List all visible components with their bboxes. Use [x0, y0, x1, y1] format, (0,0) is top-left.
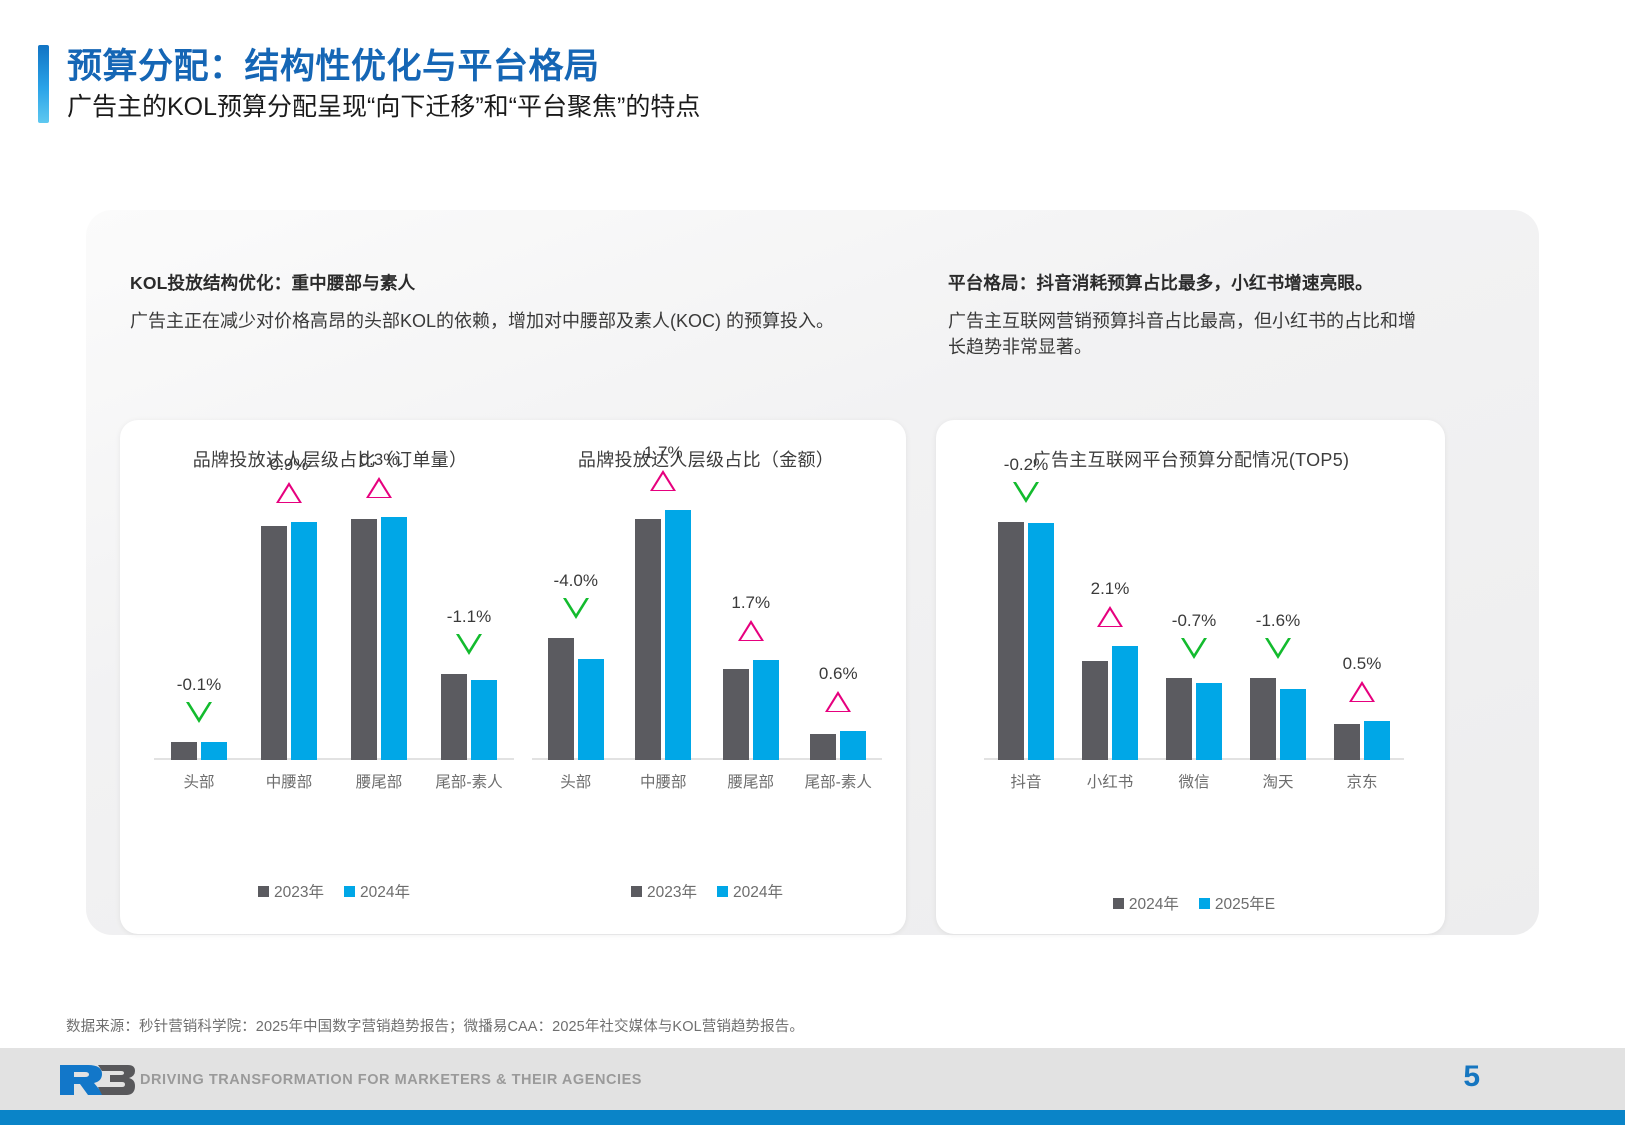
- callout-right-heading: 平台格局：抖音消耗预算占比最多，小红书增速亮眼。: [948, 270, 1428, 295]
- callout-right-body: 广告主互联网营销预算抖音占比最高，但小红书的占比和增长趋势非常显著。: [948, 308, 1428, 360]
- x-axis-label: 尾部-素人: [778, 770, 898, 792]
- legend-label: 2023年: [274, 880, 324, 902]
- legend-item[interactable]: 2024年: [344, 880, 410, 902]
- bar-series-b[interactable]: [291, 522, 317, 760]
- bar-group[interactable]: [808, 731, 868, 760]
- delta-marker: 0.6%: [793, 665, 883, 712]
- delta-value: 0.6%: [819, 665, 858, 682]
- callout-left: KOL投放结构优化：重中腰部与素人 广告主正在减少对价格高昂的头部KOL的依赖，…: [130, 270, 890, 334]
- triangle-down-icon: [1181, 638, 1207, 659]
- delta-value: 0.3%: [360, 451, 399, 468]
- triangle-down-icon: [1013, 482, 1039, 503]
- delta-value: -1.1%: [447, 608, 491, 625]
- page-title: 预算分配：结构性优化与平台格局: [67, 47, 700, 86]
- chart-platform-legend: 2024年2025年E: [984, 892, 1404, 914]
- bar-group[interactable]: [169, 742, 229, 760]
- bar-group[interactable]: [1332, 721, 1392, 760]
- slide-header: 预算分配：结构性优化与平台格局 广告主的KOL预算分配呈现“向下迁移”和“平台聚…: [38, 45, 700, 123]
- delta-marker: 2.1%: [1065, 580, 1155, 627]
- delta-marker: 1.7%: [618, 444, 708, 491]
- triangle-up-icon: [1097, 606, 1123, 627]
- callout-left-body: 广告主正在减少对价格高昂的头部KOL的依赖，增加对中腰部及素人(KOC) 的预算…: [130, 308, 890, 334]
- legend-item[interactable]: 2024年: [717, 880, 783, 902]
- chart-amount: 头部-4.0%中腰部1.7%腰尾部1.7%尾部-素人0.6%: [532, 484, 882, 794]
- triangle-up-icon: [738, 620, 764, 641]
- callout-right: 平台格局：抖音消耗预算占比最多，小红书增速亮眼。 广告主互联网营销预算抖音占比最…: [948, 270, 1428, 360]
- chart-platform: 抖音-0.2%小红书2.1%微信-0.7%淘天-1.6%京东0.5%: [984, 484, 1404, 794]
- r3-logo: [58, 1062, 136, 1098]
- delta-marker: 0.5%: [1317, 655, 1407, 702]
- legend-label: 2024年: [360, 880, 410, 902]
- slide-root: 预算分配：结构性优化与平台格局 广告主的KOL预算分配呈现“向下迁移”和“平台聚…: [0, 0, 1625, 1125]
- triangle-up-icon: [825, 691, 851, 712]
- legend-item[interactable]: 2024年: [1113, 892, 1179, 914]
- delta-value: -0.1%: [177, 676, 221, 693]
- bar-group[interactable]: [1080, 646, 1140, 760]
- bar-group[interactable]: [1164, 678, 1224, 760]
- delta-value: 1.7%: [644, 444, 683, 461]
- triangle-down-icon: [1265, 638, 1291, 659]
- delta-marker: -4.0%: [531, 572, 621, 619]
- legend-swatch: [344, 886, 355, 897]
- bar-series-b[interactable]: [840, 731, 866, 760]
- delta-marker: -0.2%: [981, 456, 1071, 503]
- chart-orders: 头部-0.1%中腰部0.9%腰尾部0.3%尾部-素人-1.1%: [154, 484, 514, 794]
- delta-marker: 0.3%: [334, 451, 424, 498]
- x-axis-label: 京东: [1302, 770, 1422, 792]
- triangle-down-icon: [186, 702, 212, 723]
- triangle-up-icon: [366, 477, 392, 498]
- bar-series-b[interactable]: [1364, 721, 1390, 760]
- bar-series-b[interactable]: [1196, 683, 1222, 760]
- page-number: 5: [1463, 1060, 1480, 1094]
- bar-series-a[interactable]: [548, 638, 574, 760]
- delta-marker: -1.6%: [1233, 612, 1323, 659]
- bar-group[interactable]: [1248, 678, 1308, 760]
- bar-series-b[interactable]: [381, 517, 407, 760]
- bar-series-a[interactable]: [810, 734, 836, 760]
- bar-series-b[interactable]: [753, 660, 779, 760]
- bar-series-b[interactable]: [578, 659, 604, 760]
- delta-value: 2.1%: [1091, 580, 1130, 597]
- chart-card-left: 品牌投放达人层级占比（订单量） 头部-0.1%中腰部0.9%腰尾部0.3%尾部-…: [120, 420, 906, 934]
- bar-series-a[interactable]: [171, 742, 197, 760]
- legend-label: 2025年E: [1215, 892, 1275, 914]
- legend-swatch: [631, 886, 642, 897]
- chart-orders-legend: 2023年2024年: [154, 880, 514, 902]
- delta-value: -4.0%: [554, 572, 598, 589]
- footer-accent-rule: [0, 1110, 1625, 1125]
- delta-value: -0.2%: [1004, 456, 1048, 473]
- triangle-up-icon: [1349, 681, 1375, 702]
- bar-series-b[interactable]: [471, 680, 497, 760]
- legend-swatch: [1199, 898, 1210, 909]
- legend-swatch: [258, 886, 269, 897]
- delta-marker: -0.7%: [1149, 612, 1239, 659]
- bar-series-b[interactable]: [1028, 523, 1054, 760]
- bar-group[interactable]: [996, 522, 1056, 760]
- bar-series-a[interactable]: [1334, 724, 1360, 760]
- legend-swatch: [717, 886, 728, 897]
- bar-series-a[interactable]: [1250, 678, 1276, 760]
- chart-card-right: 广告主互联网平台预算分配情况(TOP5) 抖音-0.2%小红书2.1%微信-0.…: [936, 420, 1445, 934]
- bar-group[interactable]: [349, 517, 409, 760]
- bar-series-a[interactable]: [1166, 678, 1192, 760]
- bar-group[interactable]: [259, 522, 319, 760]
- bar-series-a[interactable]: [635, 519, 661, 760]
- legend-item[interactable]: 2025年E: [1199, 892, 1275, 914]
- data-source-note: 数据来源：秒针营销科学院：2025年中国数字营销趋势报告；微播易CAA：2025…: [66, 1015, 804, 1036]
- triangle-down-icon: [563, 598, 589, 619]
- chart-amount-legend: 2023年2024年: [532, 880, 882, 902]
- legend-item[interactable]: 2023年: [258, 880, 324, 902]
- delta-marker: 0.9%: [244, 456, 334, 503]
- legend-item[interactable]: 2023年: [631, 880, 697, 902]
- bar-series-a[interactable]: [441, 674, 467, 760]
- delta-marker: 1.7%: [706, 594, 796, 641]
- delta-value: 0.9%: [270, 456, 309, 473]
- delta-value: 1.7%: [731, 594, 770, 611]
- legend-label: 2023年: [647, 880, 697, 902]
- legend-swatch: [1113, 898, 1124, 909]
- bar-series-b[interactable]: [665, 510, 691, 760]
- delta-marker: -0.1%: [154, 676, 244, 723]
- bar-group[interactable]: [633, 510, 693, 760]
- bar-group[interactable]: [546, 638, 606, 760]
- delta-marker: -1.1%: [424, 608, 514, 655]
- bar-series-a[interactable]: [261, 526, 287, 760]
- delta-value: -0.7%: [1172, 612, 1216, 629]
- delta-value: 0.5%: [1343, 655, 1382, 672]
- delta-value: -1.6%: [1256, 612, 1300, 629]
- triangle-down-icon: [456, 634, 482, 655]
- legend-label: 2024年: [733, 880, 783, 902]
- title-accent-bar: [38, 45, 49, 123]
- bar-series-a[interactable]: [1082, 661, 1108, 760]
- page-subtitle: 广告主的KOL预算分配呈现“向下迁移”和“平台聚焦”的特点: [67, 92, 700, 122]
- bar-series-b[interactable]: [1280, 689, 1306, 760]
- bar-series-a[interactable]: [723, 669, 749, 760]
- footer-tagline: DRIVING TRANSFORMATION FOR MARKETERS & T…: [140, 1072, 642, 1088]
- triangle-up-icon: [650, 470, 676, 491]
- callout-left-heading: KOL投放结构优化：重中腰部与素人: [130, 270, 890, 295]
- bar-series-b[interactable]: [201, 742, 227, 760]
- bar-series-a[interactable]: [351, 519, 377, 760]
- triangle-up-icon: [276, 482, 302, 503]
- x-axis-label: 尾部-素人: [409, 770, 529, 792]
- bar-group[interactable]: [439, 674, 499, 760]
- bar-series-a[interactable]: [998, 522, 1024, 760]
- bar-series-b[interactable]: [1112, 646, 1138, 760]
- bar-group[interactable]: [721, 660, 781, 760]
- legend-label: 2024年: [1129, 892, 1179, 914]
